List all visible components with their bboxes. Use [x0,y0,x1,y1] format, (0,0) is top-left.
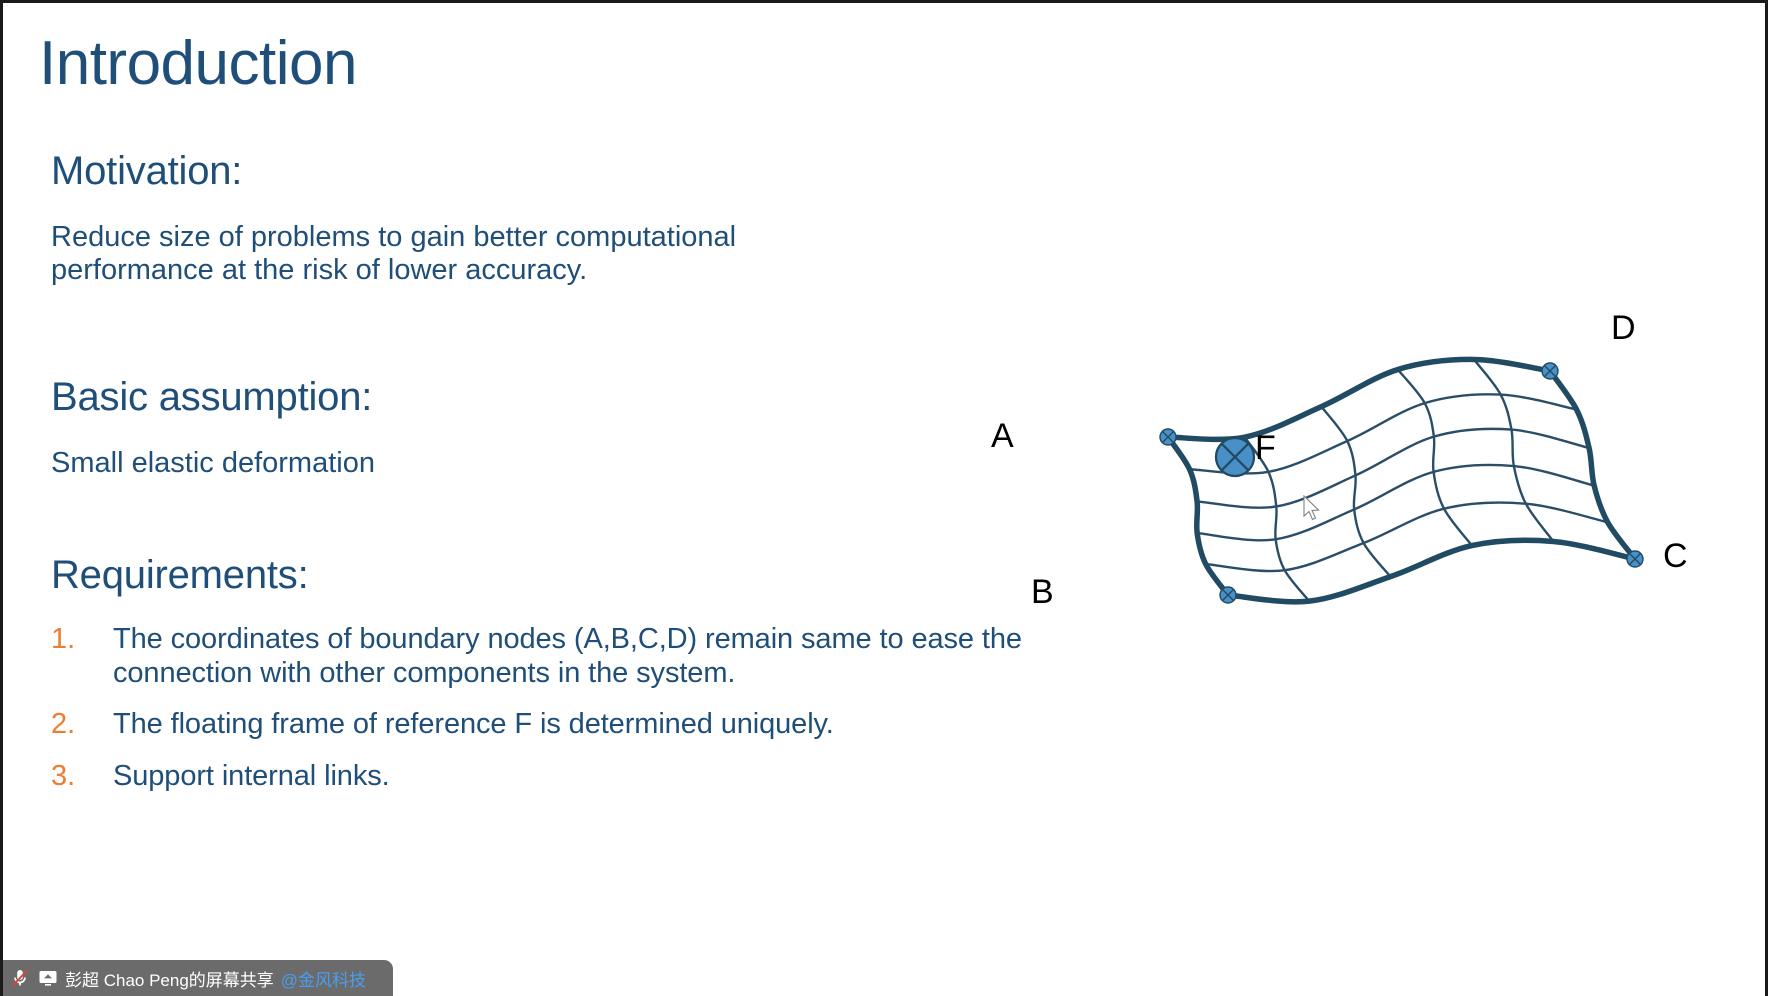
mesh-figure: ABCDF [963,293,1723,673]
mesh-boundary-top [1168,359,1550,439]
mesh-node-b [1220,587,1236,603]
requirement-number: 1. [51,623,113,657]
mesh-label-a: A [991,419,1014,453]
requirement-item: 1.The coordinates of boundary nodes (A,B… [51,623,1041,690]
motivation-heading: Motivation: [51,149,242,194]
share-status-text: 彭超 Chao Peng的屏幕共享 [65,966,274,991]
requirement-text: The coordinates of boundary nodes (A,B,C… [113,623,1041,690]
mesh-col-line [1474,359,1554,541]
requirements-heading: Requirements: [51,553,309,598]
mouse-cursor-icon [1303,495,1325,525]
mesh-diagram [963,293,1723,673]
requirement-item: 3.Support internal links. [51,760,1041,794]
basic-assumption-heading: Basic assumption: [51,375,372,420]
mesh-label-c: C [1663,539,1688,573]
mesh-node-a [1160,429,1176,445]
mesh-label-b: B [1031,575,1054,609]
mesh-node-c [1627,551,1643,567]
presentation-slide: Introduction Motivation: Reduce size of … [0,0,1768,996]
motivation-body: Reduce size of problems to gain better c… [51,221,871,288]
page-title: Introduction [39,31,357,96]
requirement-number: 3. [51,760,113,794]
screen-share-icon[interactable] [37,967,59,989]
basic-assumption-body: Small elastic deformation [51,447,871,480]
share-company-text: @金风科技 [281,966,366,991]
requirement-item: 2.The floating frame of reference F is d… [51,708,1041,742]
screen-share-taskbar[interactable]: 彭超 Chao Peng的屏幕共享 @金风科技 [3,960,393,996]
mesh-boundary-right [1550,371,1635,559]
requirements-list: 1.The coordinates of boundary nodes (A,B… [51,623,1041,812]
mesh-frame-node-f [1216,438,1254,476]
mesh-label-f: F [1255,431,1276,465]
requirement-number: 2. [51,708,113,742]
mesh-col-line [1321,407,1390,577]
requirement-text: Support internal links. [113,760,390,794]
mesh-boundary-bottom [1228,540,1635,602]
requirement-text: The floating frame of reference F is det… [113,708,834,742]
mesh-row-line [1206,503,1608,571]
microphone-muted-icon[interactable] [9,967,31,989]
mesh-label-d: D [1611,311,1636,345]
mesh-node-d [1542,363,1558,379]
